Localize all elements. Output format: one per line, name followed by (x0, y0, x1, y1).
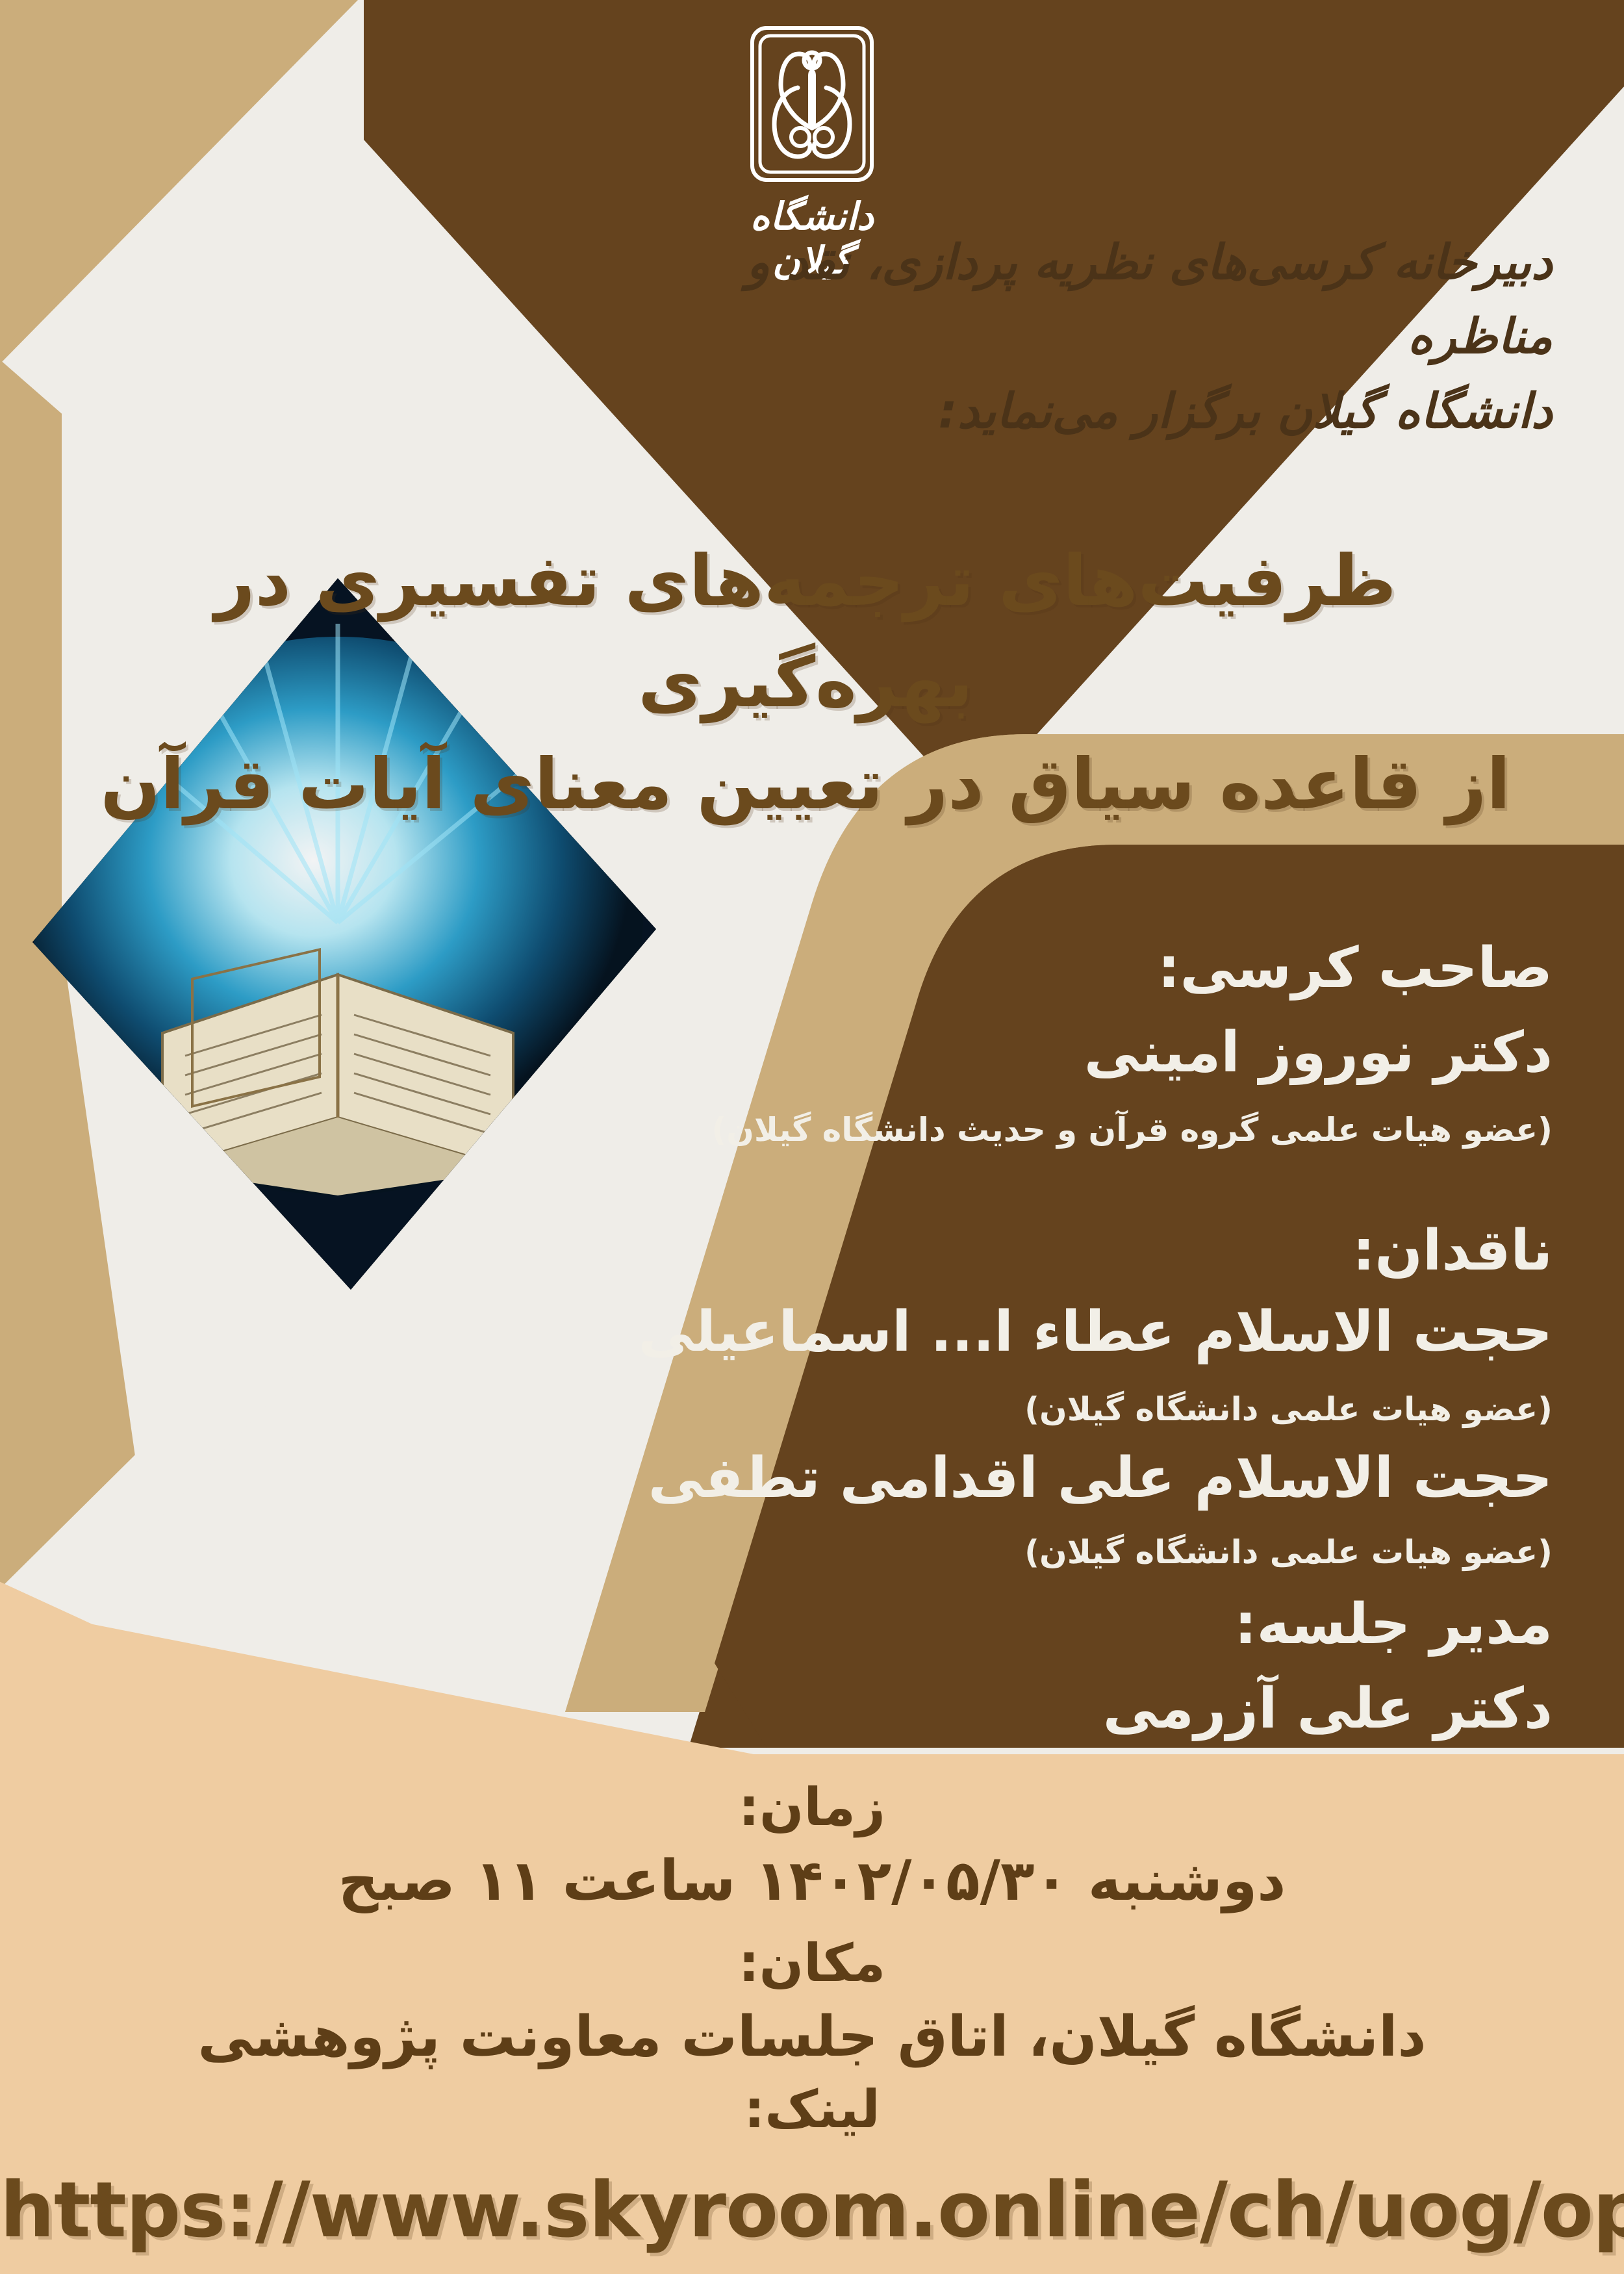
link-label: لینک: (0, 2079, 1624, 2140)
time-label: زمان: (0, 1777, 1624, 1837)
chair-label: صاحب کرسی: (1158, 936, 1553, 1001)
meeting-link[interactable]: https://www.skyroom.online/ch/uog/opinio… (0, 2164, 1624, 2257)
poster-canvas: دانشگاه گیلان دبیرخانه کرسی‌های نظریه پر… (0, 0, 1624, 2274)
place-label: مکان: (0, 1933, 1624, 1993)
critic-name: حجت الاسلام عطاء ا... اسماعیلی (639, 1299, 1553, 1364)
chair-name: دکتر نوروز امینی (1084, 1020, 1553, 1085)
time-value: دوشنبه ۱۴۰۲/۰۵/۳۰ ساعت ۱۱ صبح (0, 1848, 1624, 1913)
organizer-line-1: دبیرخانه کرسی‌های نظریه پردازی، نقد و من… (746, 235, 1553, 365)
critic-affiliation: (عضو هیات علمی دانشگاه گیلان) (1024, 1390, 1553, 1428)
title-line-1: ظرفیت‌های ترجمه‌های تفسیری در بهره‌گیری (214, 541, 1396, 724)
place-value: دانشگاه گیلان، اتاق جلسات معاونت پژوهشی (0, 2004, 1624, 2069)
page-title: ظرفیت‌های ترجمه‌های تفسیری در بهره‌گیری … (45, 429, 1566, 938)
critic-affiliation: (عضو هیات علمی دانشگاه گیلان) (1024, 1533, 1553, 1571)
critic-name: حجت الاسلام علی اقدامی تطفی (648, 1446, 1553, 1511)
moderator-label: مدیر جلسه: (1234, 1592, 1553, 1657)
critics-label: ناقدان: (1352, 1218, 1553, 1283)
chair-affiliation: (عضو هیات علمی گروه قرآن و حدیث دانشگاه … (711, 1111, 1553, 1149)
moderator-name: دکتر علی آزرمی (1103, 1676, 1553, 1741)
title-line-2: از قاعده سیاق در تعیین معنای آیات قرآن (45, 734, 1566, 836)
